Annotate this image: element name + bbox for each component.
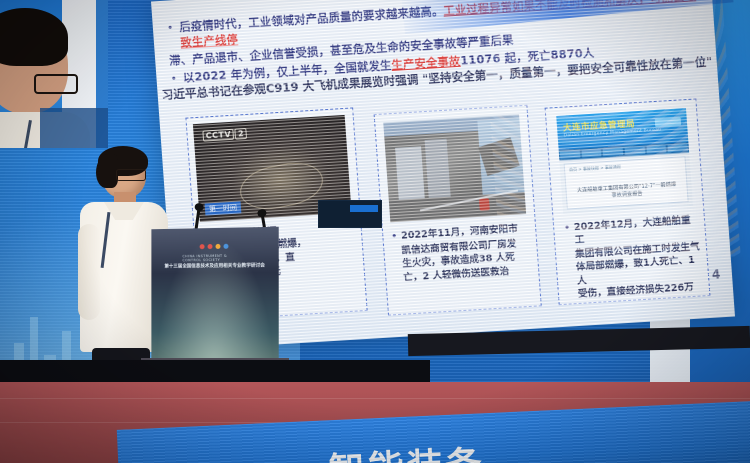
bullet-marker: • (170, 71, 178, 86)
caption-panel-gov: • 2022年12月，大连船舶重工 集团有限公司在施工时发生气 体局部燃爆，致1… (564, 214, 704, 302)
feed-speaker-hair (0, 8, 68, 66)
bullet-marker: • (166, 20, 174, 35)
gov-article-title: 大连船舶重工集团有限公司"12·7"一般燃爆事故调查报告 (574, 182, 679, 202)
gov-nav-item[interactable] (560, 151, 580, 159)
gov-nav-item[interactable] (603, 148, 623, 156)
speaker-glasses-icon (116, 169, 146, 181)
gov-nav-item[interactable] (625, 147, 645, 155)
caption-bullet-marker: • (391, 230, 398, 245)
cctv-channel-number: 2 (235, 128, 248, 140)
gov-nav-item[interactable] (581, 149, 601, 157)
podium-chinese-text: 第十三届全国信息技术及应用相关专业教学研讨会 (159, 263, 270, 270)
bullet-1-text-a: 后疫情时代，工业领域对产品质量的要求越来越高。 (179, 5, 444, 34)
bottom-banner-text: 智能装备 (328, 435, 486, 463)
quote-mid-2: ，要把 (555, 62, 591, 78)
stage-wall-base-left (0, 360, 430, 384)
live-camera-feed (0, 0, 108, 148)
speaker-hair-side (96, 154, 118, 188)
gov-website-screenshot: 大连市应急管理局 Dalian Emergency Management Bur… (556, 108, 693, 214)
gov-nav-item[interactable] (668, 144, 688, 152)
slide-panel-fire: • 2022年11月，河南安阳市 凯信达商贸有限公司厂房发 生火灾，事故造成38… (374, 105, 542, 316)
conference-photo: • 后疫情时代，工业领域对产品质量的要求越来越高。工业过程异常如果不能及时检测和… (0, 0, 750, 463)
cctv-logo-text: CCTV (202, 129, 234, 142)
quote-tail: 放在第一位" (648, 54, 713, 72)
speaker-arm (78, 224, 100, 320)
podium: CHINA INSTRUMENT & CONTROL SOCIETY 第十三届全… (151, 227, 278, 380)
gov-nav-item[interactable] (646, 145, 666, 153)
quote-bold-3: 安全可靠性 (590, 58, 649, 76)
podium-english-text: CHINA INSTRUMENT & CONTROL SOCIETY (182, 254, 246, 263)
fire-scene-image (383, 114, 526, 222)
gov-site-content: 首页 > 事故快报 > 事故通报 大连船舶重工集团有限公司"12·7"一般燃爆事… (564, 156, 689, 209)
slide-panel-gov-site: 大连市应急管理局 Dalian Emergency Management Bur… (545, 98, 711, 305)
feed-speaker-glasses (34, 74, 78, 94)
caption-panel-fire: • 2022年11月，河南安阳市 凯信达商贸有限公司厂房发 生火灾，事故造成38… (391, 222, 531, 285)
quote-bold-1: 安全第一 (451, 68, 498, 85)
quote-bold-2: 质量第一 (509, 64, 556, 81)
confidence-monitor (318, 200, 382, 228)
gov-breadcrumb: 首页 > 事故快报 > 事故通报 (569, 164, 621, 173)
caption-bullet-marker: • (564, 221, 572, 248)
feed-podium-silhouette (40, 108, 108, 148)
slide-page-number: 4 (711, 267, 720, 281)
podium-logo-icon (200, 244, 229, 249)
quote-open: "坚持 (422, 70, 452, 86)
cctv-lower-third: 第一时间 (205, 201, 242, 215)
gov-search-box[interactable] (655, 117, 682, 127)
